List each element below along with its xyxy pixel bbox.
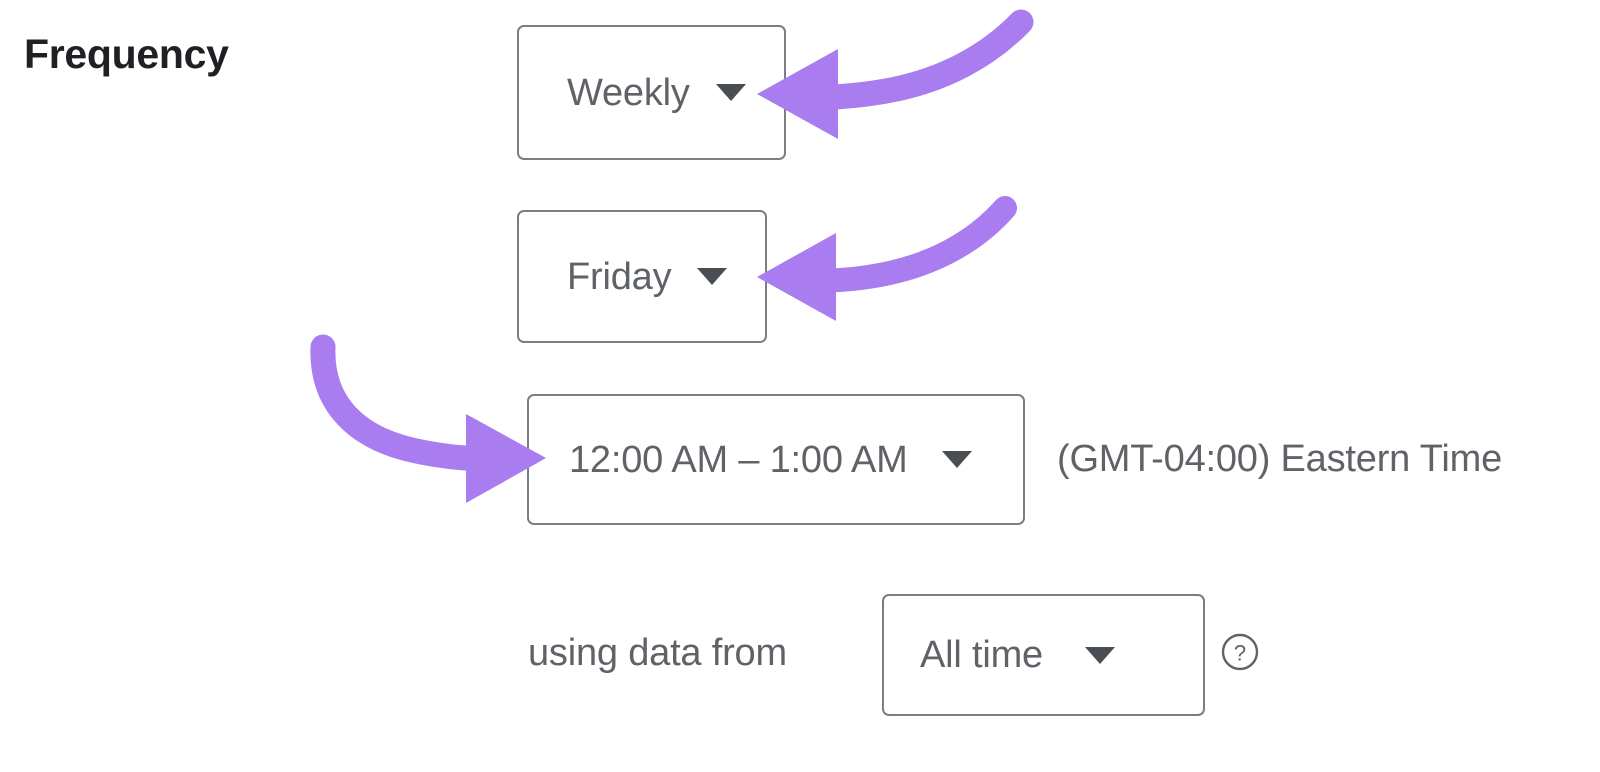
page-title: Frequency <box>24 34 229 75</box>
arrow-to-time-window-dropdown <box>323 347 546 503</box>
frequency-dropdown-value: Weekly <box>567 74 690 112</box>
time-window-dropdown[interactable]: 12:00 AM – 1:00 AM <box>527 394 1025 525</box>
chevron-down-icon <box>697 268 727 285</box>
chevron-down-icon <box>716 84 746 101</box>
data-range-dropdown[interactable]: All time <box>882 594 1205 716</box>
frequency-settings-panel: Frequency Weekly Friday 12:00 AM – 1:00 … <box>0 0 1600 772</box>
day-dropdown-value: Friday <box>567 258 671 296</box>
using-data-from-label: using data from <box>528 634 787 672</box>
time-window-dropdown-value: 12:00 AM – 1:00 AM <box>569 441 908 479</box>
frequency-dropdown[interactable]: Weekly <box>517 25 786 160</box>
arrow-to-day-dropdown <box>757 208 1005 321</box>
day-dropdown[interactable]: Friday <box>517 210 767 343</box>
help-circle-icon[interactable]: ? <box>1220 632 1260 672</box>
arrow-to-frequency-dropdown <box>757 22 1021 139</box>
chevron-down-icon <box>1085 647 1115 664</box>
timezone-label: (GMT-04:00) Eastern Time <box>1057 440 1502 478</box>
chevron-down-icon <box>942 451 972 468</box>
annotation-arrows-overlay <box>0 0 1600 772</box>
data-range-dropdown-value: All time <box>920 636 1043 674</box>
svg-text:?: ? <box>1234 641 1246 666</box>
